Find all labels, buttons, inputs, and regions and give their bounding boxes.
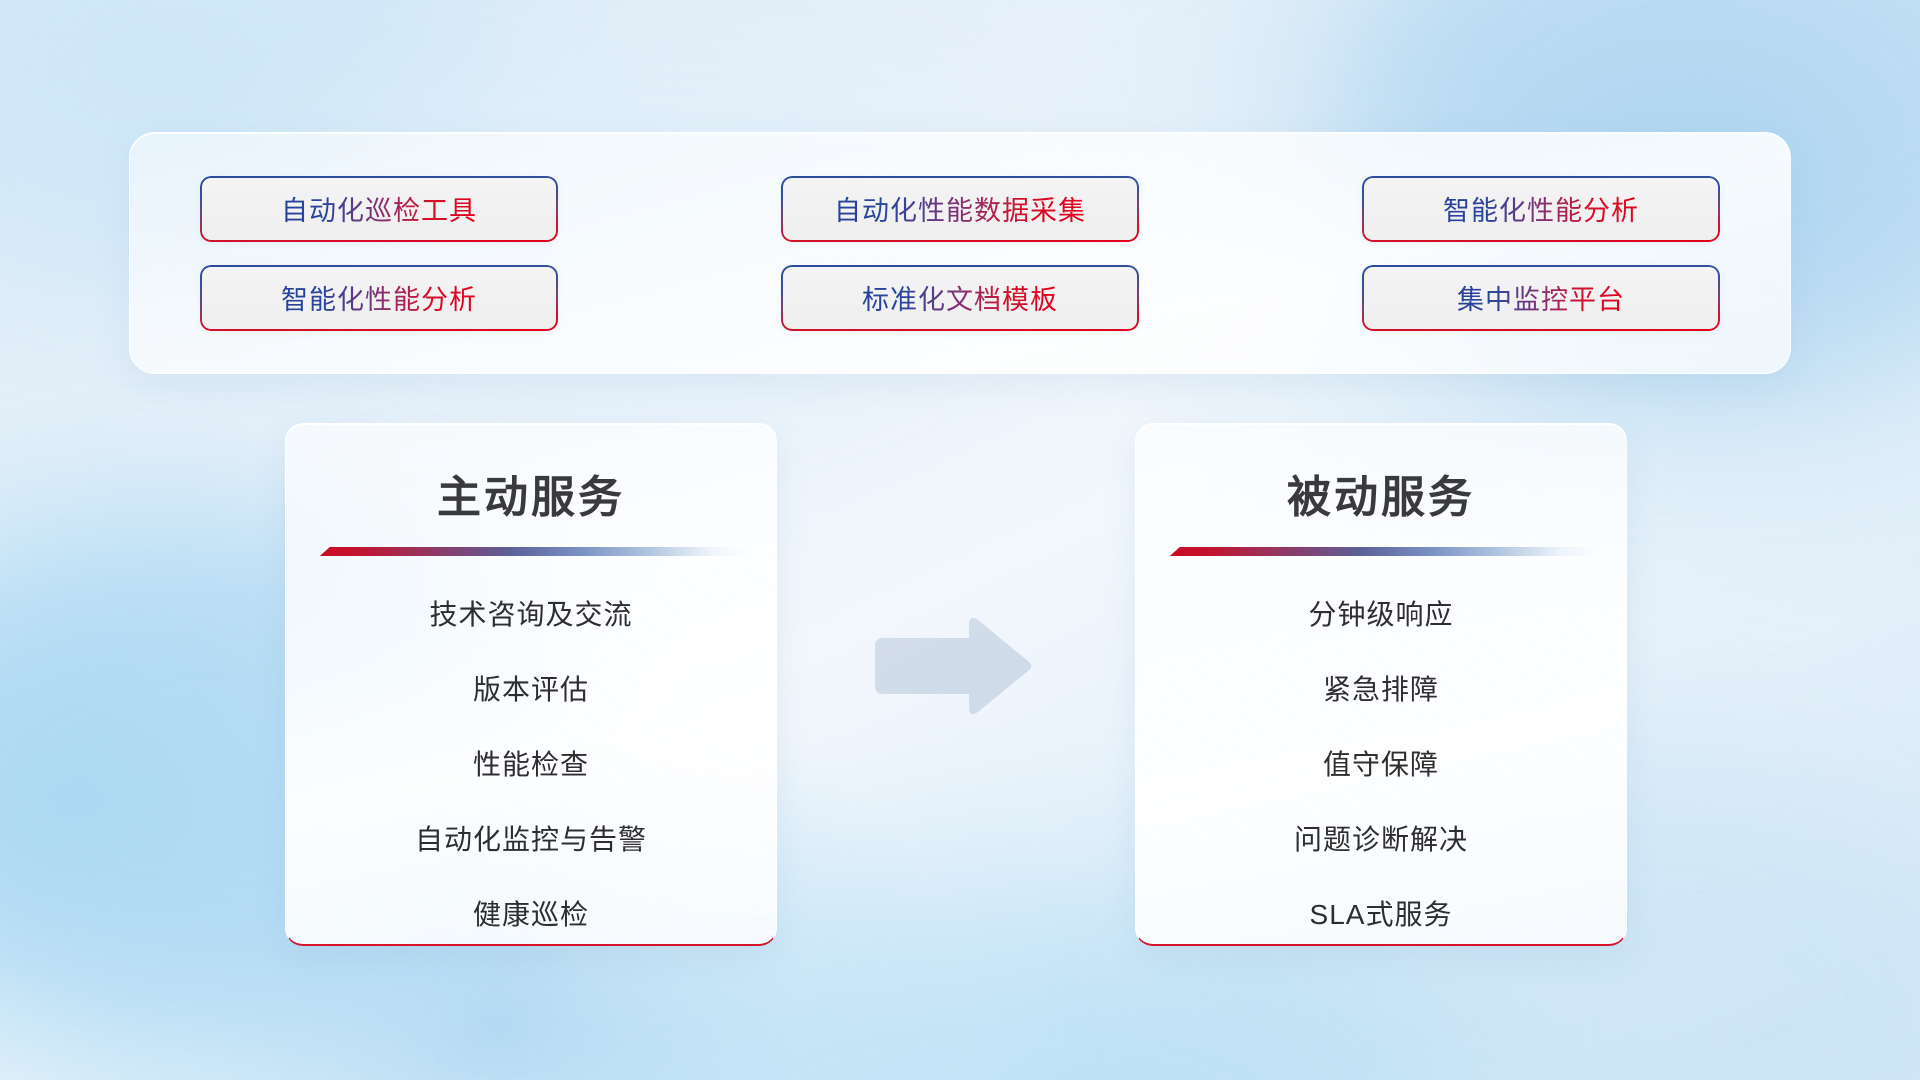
capability-tag-automated-inspection-tool[interactable]: 自动化巡检工具 [200, 176, 558, 242]
card-title: 被动服务 [1136, 461, 1626, 525]
capability-tag-automated-performance-data-collection[interactable]: 自动化性能数据采集 [781, 176, 1139, 242]
list-item[interactable]: 分钟级响应 [1308, 590, 1453, 640]
list-item[interactable]: 问题诊断解决 [1294, 815, 1468, 865]
capability-tag-label: 自动化性能数据采集 [834, 189, 1086, 228]
list-item[interactable]: 值守保障 [1323, 740, 1439, 790]
list-item[interactable]: 技术咨询及交流 [429, 590, 632, 640]
capability-tag-centralized-monitoring-platform[interactable]: 集中监控平台 [1362, 265, 1720, 331]
title-underline-accent [316, 547, 746, 558]
capability-tag-label: 自动化巡检工具 [281, 189, 477, 228]
capability-panel: 自动化巡检工具 自动化性能数据采集 智能化性能分析 智能化性能分析 标准化文档模… [129, 132, 1791, 374]
capability-row-1: 自动化巡检工具 自动化性能数据采集 智能化性能分析 [200, 176, 1720, 242]
card-title: 主动服务 [286, 461, 776, 525]
capability-tag-standardized-document-template[interactable]: 标准化文档模板 [781, 265, 1139, 331]
list-item[interactable]: 紧急排障 [1323, 665, 1439, 715]
list-item[interactable]: 健康巡检 [473, 890, 589, 940]
list-item[interactable]: SLA式服务 [1310, 890, 1453, 940]
capability-row-2: 智能化性能分析 标准化文档模板 集中监控平台 [200, 265, 1720, 331]
capability-tag-intelligent-performance-analysis-2[interactable]: 智能化性能分析 [200, 265, 558, 331]
list-item[interactable]: 性能检查 [473, 740, 589, 790]
capability-tag-label: 智能化性能分析 [281, 278, 477, 317]
capability-tag-label: 集中监控平台 [1457, 278, 1625, 317]
capability-tag-label: 智能化性能分析 [1443, 189, 1639, 228]
list-item[interactable]: 版本评估 [473, 665, 589, 715]
service-item-list: 技术咨询及交流 版本评估 性能检查 自动化监控与告警 健康巡检 [286, 590, 776, 940]
service-card-reactive: 被动服务 分钟级响应 紧急排障 值守保障 问题诊断解决 SLA式服务 [1135, 423, 1627, 946]
service-item-list: 分钟级响应 紧急排障 值守保障 问题诊断解决 SLA式服务 [1136, 590, 1626, 940]
capability-tag-intelligent-performance-analysis[interactable]: 智能化性能分析 [1362, 176, 1720, 242]
arrow-right-icon [869, 613, 1034, 718]
service-card-proactive: 主动服务 技术咨询及交流 版本评估 性能检查 自动化监控与告警 健康巡检 [285, 423, 777, 946]
capability-tag-label: 标准化文档模板 [862, 278, 1058, 317]
title-underline-accent [1166, 547, 1596, 558]
list-item[interactable]: 自动化监控与告警 [415, 815, 647, 865]
